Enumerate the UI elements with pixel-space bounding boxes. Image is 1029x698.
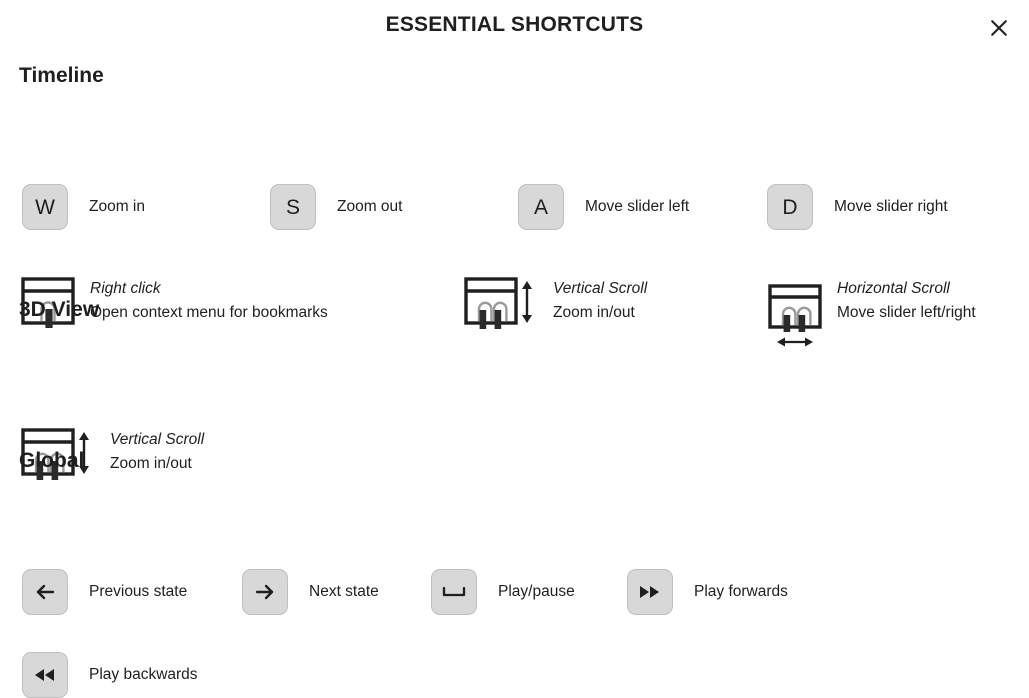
mouse-vertical-scroll-icon (463, 277, 539, 334)
keycap-label: W (35, 197, 55, 218)
play-backwards-icon (31, 665, 59, 685)
shortcut-entry-move-slider-left[interactable]: A Move slider left (518, 184, 689, 230)
shortcut-entry-horizontal-scroll[interactable]: Horizontal Scroll Move slider left/right (767, 277, 976, 355)
section-title-global: Global (0, 449, 84, 473)
mouse-horizontal-scroll-icon (767, 284, 823, 355)
mouse-shortcut-label: Vertical Scroll Zoom in/out (110, 428, 204, 476)
shortcut-entry-previous-state[interactable]: Previous state (22, 569, 187, 615)
mouse-action-text: Vertical Scroll (110, 428, 204, 452)
shortcut-label: Previous state (89, 581, 187, 603)
close-icon (989, 18, 1009, 38)
shortcut-label: Play backwards (89, 664, 198, 686)
section-title-timeline: Timeline (0, 64, 104, 88)
mouse-action-text: Horizontal Scroll (837, 277, 976, 301)
keycap-play-forwards[interactable] (627, 569, 673, 615)
shortcut-entry-zoom-in[interactable]: W Zoom in (22, 184, 145, 230)
mouse-desc-text: Zoom in/out (553, 301, 647, 325)
shortcut-label: Zoom in (89, 196, 145, 218)
keycap-arrow-left[interactable] (22, 569, 68, 615)
keycap-arrow-right[interactable] (242, 569, 288, 615)
keycap-play-backwards[interactable] (22, 652, 68, 698)
keycap-label: S (286, 197, 300, 218)
shortcut-entry-next-state[interactable]: Next state (242, 569, 379, 615)
mouse-shortcut-label: Vertical Scroll Zoom in/out (553, 277, 647, 325)
arrow-right-icon (253, 580, 277, 604)
shortcut-label: Zoom out (337, 196, 402, 218)
mouse-desc-text: Move slider left/right (837, 301, 976, 325)
mouse-action-text: Right click (90, 277, 328, 301)
keycap-s[interactable]: S (270, 184, 316, 230)
keycap-a[interactable]: A (518, 184, 564, 230)
mouse-desc-text: Open context menu for bookmarks (90, 301, 328, 325)
keycap-d[interactable]: D (767, 184, 813, 230)
close-button[interactable] (983, 12, 1015, 44)
mouse-action-text: Vertical Scroll (553, 277, 647, 301)
shortcut-entry-move-slider-right[interactable]: D Move slider right (767, 184, 948, 230)
page-title: ESSENTIAL SHORTCUTS (0, 13, 1029, 37)
shortcut-label: Move slider left (585, 196, 689, 218)
shortcut-label: Play/pause (498, 581, 575, 603)
shortcut-entry-vertical-scroll[interactable]: Vertical Scroll Zoom in/out (463, 277, 647, 334)
mouse-shortcut-label: Right click Open context menu for bookma… (90, 277, 328, 325)
keycap-label: D (782, 197, 797, 218)
arrow-left-icon (33, 580, 57, 604)
mouse-desc-text: Zoom in/out (110, 452, 204, 476)
keycap-label: A (534, 197, 548, 218)
shortcut-entry-zoom-out[interactable]: S Zoom out (270, 184, 402, 230)
keycap-spacebar[interactable] (431, 569, 477, 615)
mouse-shortcut-label: Horizontal Scroll Move slider left/right (837, 277, 976, 325)
keycap-w[interactable]: W (22, 184, 68, 230)
play-forwards-icon (636, 582, 664, 602)
shortcut-label: Play forwards (694, 581, 788, 603)
dialog-header: ESSENTIAL SHORTCUTS (0, 0, 1029, 56)
shortcut-entry-play-forwards[interactable]: Play forwards (627, 569, 788, 615)
shortcut-entry-play-backwards[interactable]: Play backwards (22, 652, 198, 698)
shortcut-label: Next state (309, 581, 379, 603)
shortcut-label: Move slider right (834, 196, 948, 218)
shortcut-entry-play-pause[interactable]: Play/pause (431, 569, 575, 615)
section-title-3d-view: 3D View (0, 298, 99, 322)
spacebar-icon (441, 582, 467, 602)
